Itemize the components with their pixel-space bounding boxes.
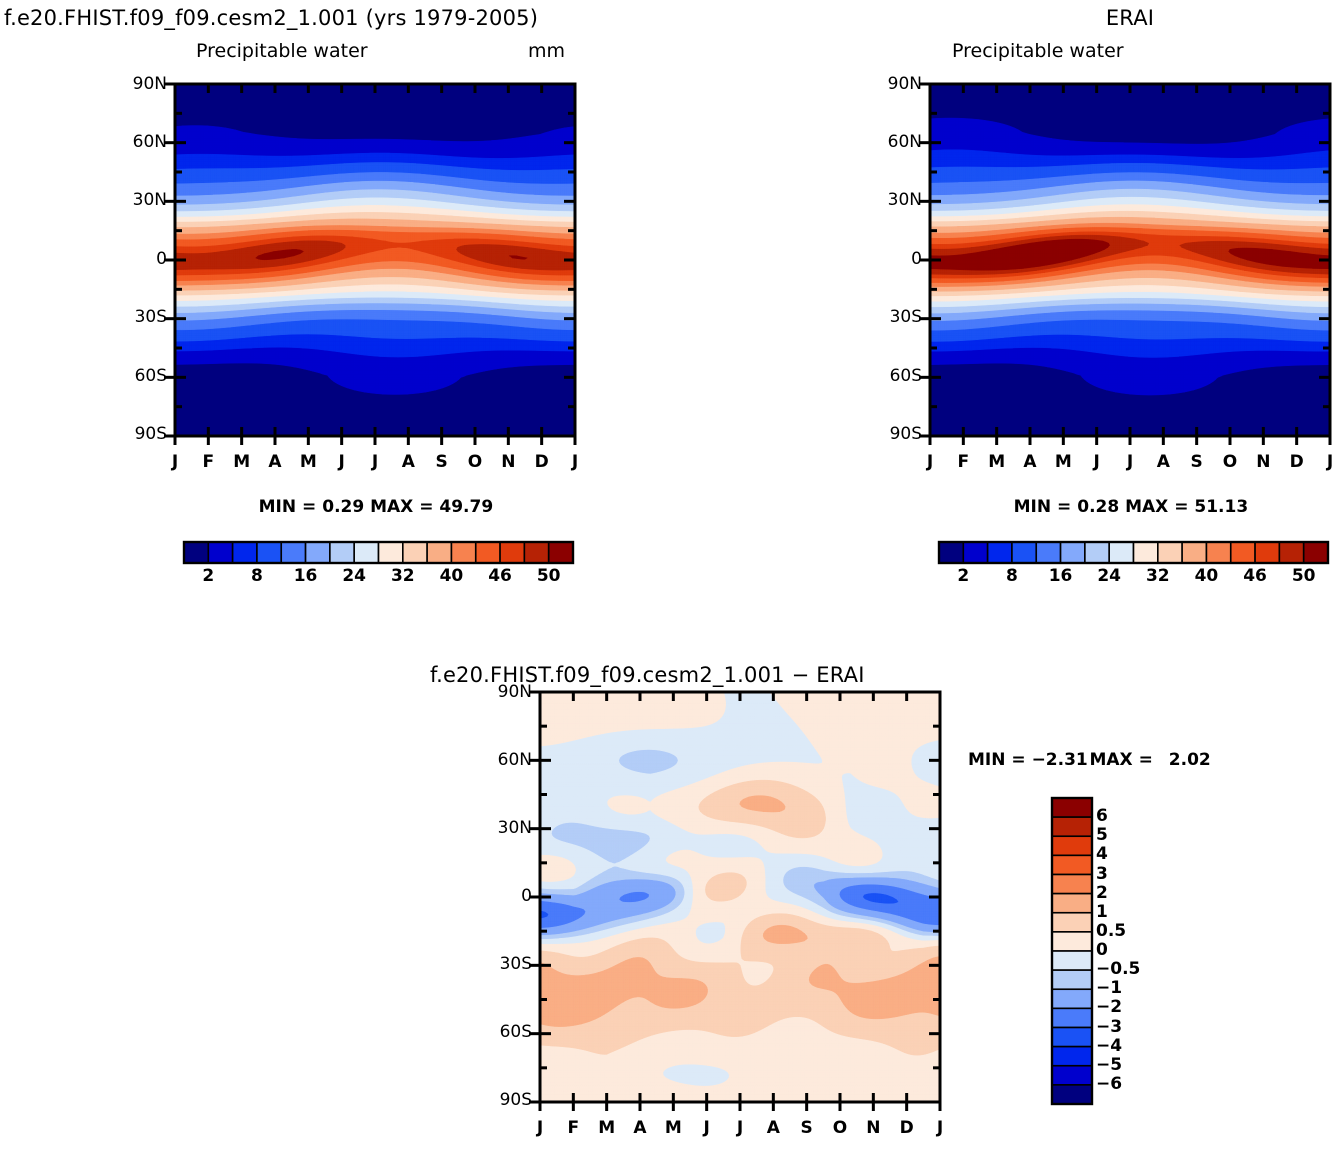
obs-ytick-3: 0 bbox=[880, 249, 922, 269]
xtick-d-11: D bbox=[528, 452, 556, 472]
diff-min-value: −2.31 bbox=[1032, 750, 1084, 770]
diff-colorbar-label-7: 0 bbox=[1096, 940, 1152, 960]
diff-ytick-4: 30S bbox=[490, 954, 532, 974]
colorbar-cell-4 bbox=[281, 542, 305, 563]
difference-contour-plot bbox=[540, 692, 942, 1104]
colorbar-label-50: 50 bbox=[1284, 566, 1324, 586]
diff-colorbar-cell-12 bbox=[1052, 1028, 1092, 1047]
diff-ytick-6: 90S bbox=[490, 1090, 532, 1110]
xtick-j-0: J bbox=[526, 1118, 554, 1138]
xtick-a-7: A bbox=[394, 452, 422, 472]
xtick-d-11: D bbox=[1283, 452, 1311, 472]
colorbar-cell-12 bbox=[476, 542, 500, 563]
xtick-m-2: M bbox=[983, 452, 1011, 472]
model-colorbar bbox=[184, 542, 575, 565]
xtick-j-0: J bbox=[161, 452, 189, 472]
colorbar-cell-8 bbox=[379, 542, 403, 563]
xtick-j-12: J bbox=[926, 1118, 954, 1138]
diff-colorbar-cell-9 bbox=[1052, 970, 1092, 989]
colorbar-label-16: 16 bbox=[286, 566, 326, 586]
obs-ytick-5: 60S bbox=[880, 366, 922, 386]
colorbar-cell-7 bbox=[354, 542, 378, 563]
diff-colorbar-label-6: 0.5 bbox=[1096, 921, 1152, 941]
colorbar-label-16: 16 bbox=[1041, 566, 1081, 586]
model-ytick-1: 60N bbox=[125, 132, 167, 152]
diff-colorbar-swatches bbox=[1052, 798, 1094, 1106]
xtick-j-6: J bbox=[1116, 452, 1144, 472]
diff-colorbar-label-8: −0.5 bbox=[1096, 959, 1152, 979]
obs-ytick-6: 90S bbox=[880, 424, 922, 444]
xtick-m-4: M bbox=[294, 452, 322, 472]
diff-colorbar-label-13: −5 bbox=[1096, 1055, 1152, 1075]
colorbar-cell-14 bbox=[524, 542, 548, 563]
diff-max-label: MAX = bbox=[1089, 750, 1152, 770]
obs-max-value: 51.13 bbox=[1194, 497, 1246, 517]
colorbar-cell-3 bbox=[257, 542, 281, 563]
diff-ytick-2: 30N bbox=[490, 818, 532, 838]
model-ytick-4: 30S bbox=[125, 307, 167, 327]
diff-colorbar-label-10: −2 bbox=[1096, 997, 1152, 1017]
xtick-n-10: N bbox=[494, 452, 522, 472]
colorbar-label-8: 8 bbox=[992, 566, 1032, 586]
model-minmax: MIN = 0.29 MAX = 49.79 bbox=[175, 497, 575, 517]
colorbar-label-46: 46 bbox=[1235, 566, 1275, 586]
colorbar-label-46: 46 bbox=[480, 566, 520, 586]
diff-colorbar-cell-11 bbox=[1052, 1008, 1092, 1027]
obs-min-value: 0.28 bbox=[1077, 497, 1119, 517]
obs-colorbar-labels: 28162432404650 bbox=[939, 566, 1328, 590]
contour-canvas bbox=[175, 84, 577, 438]
diff-max-value: 2.02 bbox=[1159, 750, 1211, 770]
model-ytick-5: 60S bbox=[125, 366, 167, 386]
contour-canvas bbox=[930, 84, 1332, 438]
diff-colorbar-cell-1 bbox=[1052, 817, 1092, 836]
model-ytick-0: 90N bbox=[125, 74, 167, 94]
model-min-value: 0.29 bbox=[322, 497, 364, 517]
obs-panel-title: ERAI bbox=[930, 6, 1330, 30]
model-ytick-2: 30N bbox=[125, 190, 167, 210]
xtick-j-0: J bbox=[916, 452, 944, 472]
colorbar-cell-15 bbox=[549, 542, 573, 563]
colorbar-label-50: 50 bbox=[529, 566, 569, 586]
obs-min-label: MIN = bbox=[1014, 497, 1072, 517]
colorbar-cell-10 bbox=[427, 542, 451, 563]
diff-colorbar-cell-6 bbox=[1052, 913, 1092, 932]
diff-colorbar-cell-8 bbox=[1052, 951, 1092, 970]
colorbar-swatches bbox=[939, 542, 1330, 565]
xtick-a-3: A bbox=[1016, 452, 1044, 472]
xtick-m-4: M bbox=[659, 1118, 687, 1138]
xtick-j-12: J bbox=[561, 452, 589, 472]
colorbar-cell-5 bbox=[1061, 542, 1085, 563]
diff-ytick-0: 90N bbox=[490, 682, 532, 702]
xtick-a-7: A bbox=[1149, 452, 1177, 472]
colorbar-cell-2 bbox=[988, 542, 1012, 563]
difference-minmax: MIN = −2.31 MAX = 2.02 bbox=[968, 750, 1211, 770]
xtick-j-12: J bbox=[1316, 452, 1342, 472]
model-panel-subtitle: Precipitable water bbox=[196, 40, 368, 62]
model-panel-title: f.e20.FHIST.f09_f09.cesm2_1.001 (yrs 197… bbox=[4, 6, 538, 30]
xtick-n-10: N bbox=[859, 1118, 887, 1138]
diff-colorbar-label-4: 2 bbox=[1096, 883, 1152, 903]
xtick-m-2: M bbox=[228, 452, 256, 472]
colorbar-cell-4 bbox=[1036, 542, 1060, 563]
obs-minmax: MIN = 0.28 MAX = 51.13 bbox=[930, 497, 1330, 517]
diff-ytick-3: 0 bbox=[490, 886, 532, 906]
colorbar-cell-0 bbox=[939, 542, 963, 563]
colorbar-cell-11 bbox=[1206, 542, 1230, 563]
diff-ytick-5: 60S bbox=[490, 1022, 532, 1042]
model-units-label: mm bbox=[528, 40, 565, 62]
diff-colorbar-label-5: 1 bbox=[1096, 902, 1152, 922]
colorbar-label-32: 32 bbox=[1138, 566, 1178, 586]
diff-colorbar-cell-7 bbox=[1052, 932, 1092, 951]
xtick-m-2: M bbox=[593, 1118, 621, 1138]
colorbar-cell-15 bbox=[1304, 542, 1328, 563]
xtick-d-11: D bbox=[893, 1118, 921, 1138]
colorbar-cell-6 bbox=[330, 542, 354, 563]
colorbar-cell-5 bbox=[306, 542, 330, 563]
colorbar-cell-14 bbox=[1279, 542, 1303, 563]
diff-ytick-1: 60N bbox=[490, 750, 532, 770]
obs-ytick-4: 30S bbox=[880, 307, 922, 327]
xtick-a-3: A bbox=[261, 452, 289, 472]
diff-colorbar-cell-13 bbox=[1052, 1047, 1092, 1066]
diff-colorbar-cell-3 bbox=[1052, 855, 1092, 874]
diff-colorbar-label-0: 6 bbox=[1096, 806, 1152, 826]
xtick-f-1: F bbox=[559, 1118, 587, 1138]
colorbar-label-40: 40 bbox=[1186, 566, 1226, 586]
xtick-f-1: F bbox=[194, 452, 222, 472]
diff-colorbar-cell-0 bbox=[1052, 798, 1092, 817]
model-min-label: MIN = bbox=[259, 497, 317, 517]
xtick-a-7: A bbox=[759, 1118, 787, 1138]
colorbar-cell-3 bbox=[1012, 542, 1036, 563]
obs-contour-plot bbox=[930, 84, 1332, 438]
xtick-j-6: J bbox=[361, 452, 389, 472]
colorbar-cell-13 bbox=[1255, 542, 1279, 563]
model-ytick-3: 0 bbox=[125, 249, 167, 269]
xtick-j-5: J bbox=[693, 1118, 721, 1138]
colorbar-cell-1 bbox=[963, 542, 987, 563]
diff-colorbar-cell-4 bbox=[1052, 875, 1092, 894]
diff-colorbar-label-14: −6 bbox=[1096, 1074, 1152, 1094]
xtick-n-10: N bbox=[1249, 452, 1277, 472]
xtick-s-8: S bbox=[428, 452, 456, 472]
colorbar-cell-10 bbox=[1182, 542, 1206, 563]
colorbar-label-24: 24 bbox=[334, 566, 374, 586]
diff-colorbar-cell-2 bbox=[1052, 836, 1092, 855]
colorbar-cell-8 bbox=[1134, 542, 1158, 563]
model-ytick-6: 90S bbox=[125, 424, 167, 444]
diff-colorbar-cell-14 bbox=[1052, 1066, 1092, 1085]
diff-colorbar-cell-5 bbox=[1052, 894, 1092, 913]
xtick-s-8: S bbox=[1183, 452, 1211, 472]
colorbar-label-8: 8 bbox=[237, 566, 277, 586]
xtick-j-5: J bbox=[1083, 452, 1111, 472]
colorbar-cell-12 bbox=[1231, 542, 1255, 563]
diff-colorbar-label-9: −1 bbox=[1096, 978, 1152, 998]
diff-colorbar-label-11: −3 bbox=[1096, 1017, 1152, 1037]
model-colorbar-labels: 28162432404650 bbox=[184, 566, 573, 590]
colorbar-cell-2 bbox=[233, 542, 257, 563]
diff-colorbar-label-2: 4 bbox=[1096, 844, 1152, 864]
diff-colorbar-cell-10 bbox=[1052, 989, 1092, 1008]
colorbar-label-24: 24 bbox=[1089, 566, 1129, 586]
obs-ytick-1: 60N bbox=[880, 132, 922, 152]
diff-colorbar-label-1: 5 bbox=[1096, 825, 1152, 845]
obs-panel-subtitle: Precipitable water bbox=[952, 40, 1124, 62]
colorbar-swatches bbox=[184, 542, 575, 565]
xtick-s-8: S bbox=[793, 1118, 821, 1138]
colorbar-cell-9 bbox=[403, 542, 427, 563]
colorbar-cell-13 bbox=[500, 542, 524, 563]
diff-colorbar-label-12: −4 bbox=[1096, 1036, 1152, 1056]
xtick-o-9: O bbox=[1216, 452, 1244, 472]
diff-colorbar-cell-15 bbox=[1052, 1085, 1092, 1104]
colorbar-cell-0 bbox=[184, 542, 208, 563]
colorbar-label-2: 2 bbox=[943, 566, 983, 586]
model-contour-plot bbox=[175, 84, 577, 438]
colorbar-cell-6 bbox=[1085, 542, 1109, 563]
colorbar-cell-1 bbox=[208, 542, 232, 563]
obs-ytick-0: 90N bbox=[880, 74, 922, 94]
xtick-j-5: J bbox=[328, 452, 356, 472]
xtick-m-4: M bbox=[1049, 452, 1077, 472]
diff-colorbar-label-3: 3 bbox=[1096, 864, 1152, 884]
colorbar-cell-7 bbox=[1109, 542, 1133, 563]
xtick-j-6: J bbox=[726, 1118, 754, 1138]
colorbar-label-2: 2 bbox=[188, 566, 228, 586]
obs-max-label: MAX = bbox=[1125, 497, 1188, 517]
xtick-f-1: F bbox=[949, 452, 977, 472]
colorbar-cell-9 bbox=[1158, 542, 1182, 563]
obs-colorbar bbox=[939, 542, 1330, 565]
difference-colorbar-labels: 6543210.50−0.5−1−2−3−4−5−6 bbox=[1096, 798, 1156, 1108]
obs-ytick-2: 30N bbox=[880, 190, 922, 210]
colorbar-cell-11 bbox=[451, 542, 475, 563]
contour-canvas bbox=[540, 692, 942, 1104]
xtick-o-9: O bbox=[826, 1118, 854, 1138]
model-max-value: 49.79 bbox=[439, 497, 491, 517]
xtick-a-3: A bbox=[626, 1118, 654, 1138]
colorbar-label-32: 32 bbox=[383, 566, 423, 586]
difference-colorbar bbox=[1052, 798, 1094, 1106]
model-max-label: MAX = bbox=[370, 497, 433, 517]
xtick-o-9: O bbox=[461, 452, 489, 472]
colorbar-label-40: 40 bbox=[431, 566, 471, 586]
diff-min-label: MIN = bbox=[968, 750, 1026, 770]
